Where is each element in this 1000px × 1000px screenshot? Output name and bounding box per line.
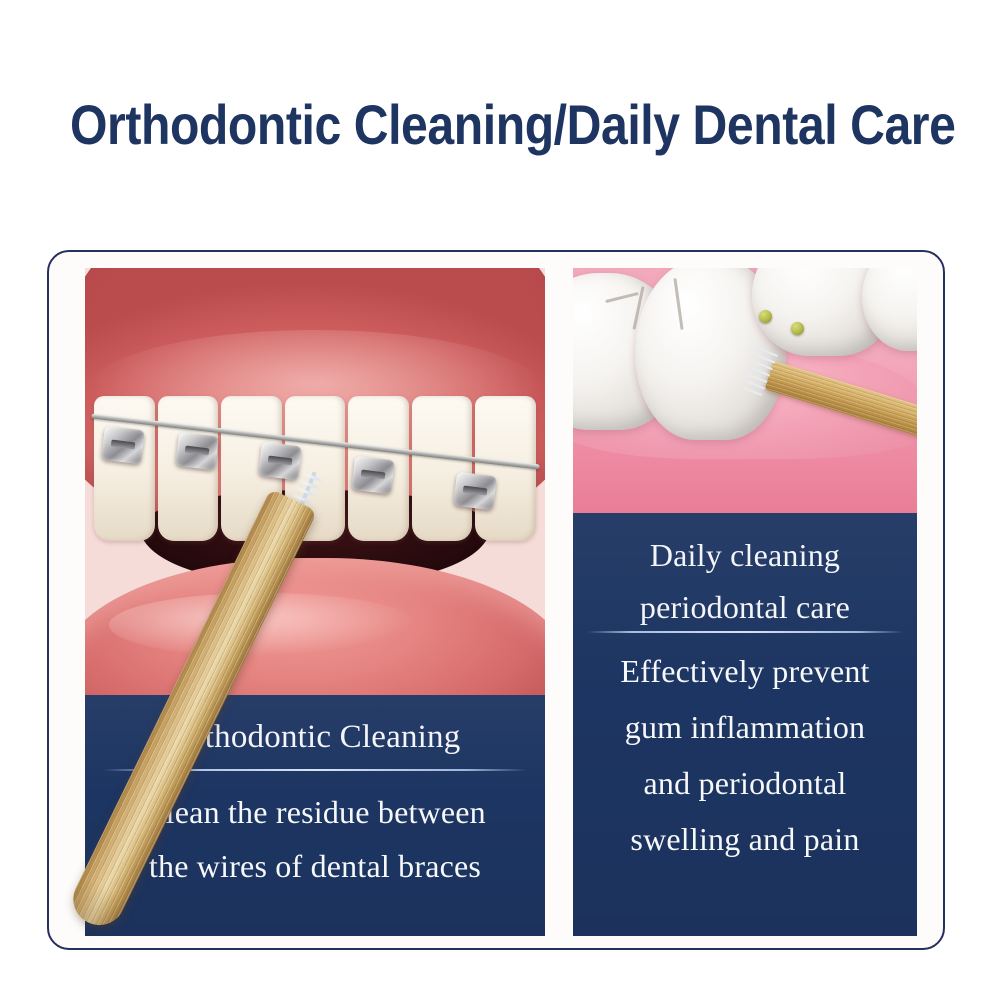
teeth-row (94, 396, 536, 541)
right-caption-line: swelling and pain (573, 811, 917, 867)
right-caption-line: gum inflammation (573, 699, 917, 755)
page-title: Orthodontic Cleaning/Daily Dental Care (70, 96, 930, 154)
food-debris-particle (791, 322, 804, 335)
right-caption-heading-line: periodontal care (573, 581, 917, 633)
panel-daily-cleaning: Daily cleaning periodontal care Effectiv… (573, 268, 917, 936)
card-inner: Orthodontic Cleaning Clean the residue b… (85, 268, 917, 936)
right-caption-heading-line: Daily cleaning (573, 529, 917, 581)
lips-and-teeth-scene (85, 268, 545, 695)
left-caption-line: the wires of dental braces (85, 839, 545, 893)
braces-bracket (175, 432, 219, 471)
braces-bracket (258, 442, 302, 481)
content-card: Orthodontic Cleaning Clean the residue b… (47, 250, 945, 950)
right-caption-line: and periodontal (573, 755, 917, 811)
food-debris-particle (759, 310, 772, 323)
product-marketing-image: Orthodontic Cleaning/Daily Dental Care (0, 0, 1000, 1000)
gum-illustration (573, 268, 917, 513)
molar-gum-scene (573, 268, 917, 513)
braces-bracket (453, 472, 497, 511)
right-caption-body: Effectively prevent gum inflammation and… (573, 643, 917, 867)
braces-photo (85, 268, 545, 695)
tooth (475, 396, 536, 541)
tooth (412, 396, 473, 541)
braces-bracket (351, 456, 395, 495)
braces-bracket (101, 426, 145, 465)
right-caption-heading: Daily cleaning periodontal care (573, 529, 917, 633)
right-caption-line: Effectively prevent (573, 643, 917, 699)
lower-lip (85, 558, 545, 695)
caption-divider (587, 631, 903, 633)
right-caption-block: Daily cleaning periodontal care Effectiv… (573, 513, 917, 936)
